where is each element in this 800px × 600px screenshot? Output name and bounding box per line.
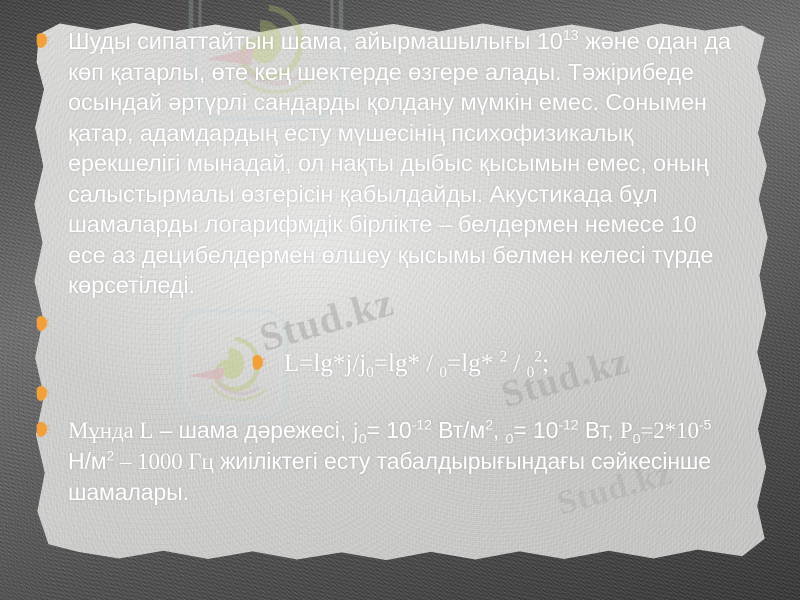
formula-text: L=lg*j/j0=lg* / 0=lg* 2 / 02; [250,349,734,379]
bullet-formula: L=lg*j/j0=lg* / 0=lg* 2 / 02; [34,349,734,379]
slide-canvas: Stud.kz Stud.kz Stud.kz Шуды сипаттайтын… [0,0,800,600]
paragraph-text: Шуды сипаттайтын шама, айырмашылығы 1013… [34,26,734,301]
droplet-bullet-icon [34,32,50,51]
droplet-bullet-icon [34,421,50,440]
bullet-blank-2 [34,379,734,413]
bullet-paragraph-3: Мұнда L – шама дәрежесі, j0= 10-12 Вт/м2… [34,415,734,508]
droplet-bullet-icon [34,315,50,334]
droplet-bullet-icon [34,385,50,404]
bullet-blank-1 [34,309,734,347]
bullet-paragraph-1: Шуды сипаттайтын шама, айырмашылығы 1013… [34,26,734,301]
slide-content: Шуды сипаттайтын шама, айырмашылығы 1013… [34,20,734,530]
droplet-bullet-icon [250,354,266,373]
paragraph-text: Мұнда L – шама дәрежесі, j0= 10-12 Вт/м2… [34,415,734,508]
